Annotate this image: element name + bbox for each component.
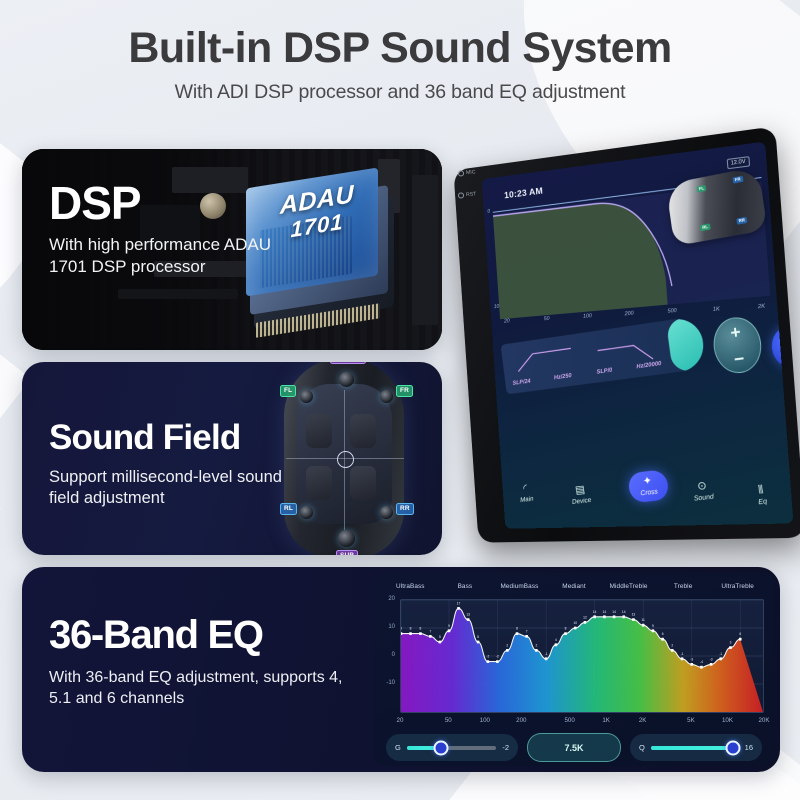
voltage-badge: 12.0V bbox=[726, 156, 750, 169]
q-slider[interactable] bbox=[651, 746, 739, 750]
reset-icon bbox=[458, 192, 464, 198]
svg-text:14: 14 bbox=[603, 610, 607, 614]
nav-item-label: Eq bbox=[758, 498, 768, 506]
crossover-panel[interactable]: SLP/24 Hz/250 SLP/0 Hz/20000 bbox=[501, 316, 707, 395]
sound-field-card-text: Sound Field Support millisecond-level so… bbox=[49, 418, 299, 510]
page-title: Built-in DSP Sound System bbox=[0, 26, 800, 71]
nav-item-label: Device bbox=[572, 497, 592, 506]
sound-icon: ⊙ bbox=[692, 480, 713, 493]
car-icon: ◜ bbox=[518, 483, 533, 495]
svg-text:8: 8 bbox=[410, 627, 412, 631]
dsp-card-title: DSP bbox=[49, 181, 279, 225]
svg-text:7: 7 bbox=[429, 629, 431, 633]
plus-icon[interactable]: + bbox=[729, 322, 742, 344]
device-icon: ▤ bbox=[570, 484, 591, 497]
q-slider-knob[interactable] bbox=[726, 740, 741, 755]
nav-item-label: Main bbox=[520, 496, 534, 504]
feature-card-sound-field: FL FR RL RR CENTER SUB Sound Field Suppo… bbox=[22, 362, 442, 555]
car-seat bbox=[350, 466, 376, 500]
eq-x-tick: 200 bbox=[516, 717, 526, 724]
eq-x-tick: 1K bbox=[602, 717, 610, 724]
eq-x-tick: 500 bbox=[564, 717, 574, 724]
header: Built-in DSP Sound System With ADI DSP p… bbox=[0, 26, 800, 104]
eq-x-axis: 20501002005001K2K5K10K20K bbox=[400, 715, 764, 728]
svg-text:5: 5 bbox=[439, 635, 441, 639]
eq-panel: UltraBassBassMediumBassMediantMiddleTreb… bbox=[374, 573, 774, 766]
nav-item-eq[interactable]: ⦀Eq bbox=[756, 485, 768, 507]
svg-text:-3: -3 bbox=[690, 657, 693, 661]
nav-item-cross[interactable]: ✦Cross bbox=[627, 469, 670, 503]
hu-x-tick: 1K bbox=[713, 306, 720, 313]
eq-band-label: Treble bbox=[674, 583, 692, 590]
q-value: 16 bbox=[745, 743, 753, 752]
svg-text:-1: -1 bbox=[681, 652, 684, 656]
eq-icon: ⦀ bbox=[756, 485, 766, 497]
svg-text:8: 8 bbox=[565, 627, 567, 631]
car-seat bbox=[350, 414, 376, 448]
sound-field-card-title: Sound Field bbox=[49, 418, 299, 458]
eq-controls: G -2 7.5K Q 16 bbox=[386, 733, 762, 762]
svg-text:14: 14 bbox=[612, 610, 616, 614]
svg-text:14: 14 bbox=[593, 610, 597, 614]
svg-text:11: 11 bbox=[641, 618, 645, 622]
svg-text:-2: -2 bbox=[486, 655, 489, 659]
svg-text:-2: -2 bbox=[496, 655, 499, 659]
eq-curve-plot[interactable]: 88875917135-2-22872-14810121414141413119… bbox=[400, 599, 764, 713]
eq-band-labels: UltraBassBassMediumBassMediantMiddleTreb… bbox=[388, 579, 760, 599]
svg-text:6: 6 bbox=[739, 632, 741, 636]
eq-x-tick: 50 bbox=[445, 717, 452, 724]
speaker-rl bbox=[300, 506, 313, 519]
svg-text:-1: -1 bbox=[545, 652, 548, 656]
svg-text:3: 3 bbox=[730, 641, 732, 645]
hu-x-tick: 100 bbox=[583, 313, 592, 320]
svg-text:-3: -3 bbox=[710, 657, 713, 661]
eq-card-text: 36-Band EQ With 36-band EQ adjustment, s… bbox=[49, 613, 359, 710]
hu-x-tick: 50 bbox=[544, 316, 550, 322]
speaker-tag-center: CENTER bbox=[330, 362, 366, 364]
svg-text:12: 12 bbox=[583, 615, 587, 619]
page-subtitle: With ADI DSP processor and 36 band EQ ad… bbox=[0, 81, 800, 104]
eq-y-tick: 10 bbox=[388, 624, 395, 630]
eq-y-tick: 20 bbox=[388, 596, 395, 602]
hu-x-tick: 20 bbox=[504, 318, 510, 324]
eq-band-label: MediumBass bbox=[500, 583, 538, 590]
nav-item-main[interactable]: ◜Main bbox=[518, 483, 534, 504]
eq-card-description: With 36-band EQ adjustment, supports 4, … bbox=[49, 668, 359, 710]
feature-card-dsp: ADAU 1701 DSP With high performance ADAU… bbox=[22, 149, 442, 350]
car-seat bbox=[306, 466, 332, 500]
svg-text:9: 9 bbox=[448, 624, 450, 628]
speaker-sub bbox=[338, 530, 355, 547]
nav-item-label: Sound bbox=[694, 493, 715, 502]
nav-item-label: Cross bbox=[640, 488, 658, 497]
dsp-card-description: With high performance ADAU 1701 DSP proc… bbox=[49, 234, 279, 278]
svg-text:7: 7 bbox=[526, 629, 528, 633]
cross-icon: ✦ bbox=[638, 475, 657, 488]
svg-text:13: 13 bbox=[466, 613, 470, 617]
q-label: Q bbox=[639, 743, 645, 752]
car-head-unit: MIC RST 10:23 AM 12.0V 0 10 R bbox=[452, 148, 788, 540]
svg-text:8: 8 bbox=[516, 627, 518, 631]
svg-text:13: 13 bbox=[632, 613, 636, 617]
speaker-rr bbox=[380, 506, 393, 519]
speaker-fr bbox=[380, 390, 393, 403]
poster-canvas: Built-in DSP Sound System With ADI DSP p… bbox=[0, 0, 800, 800]
svg-text:5: 5 bbox=[477, 635, 479, 639]
hu-y-tick: 0 bbox=[487, 209, 490, 215]
svg-text:2: 2 bbox=[535, 643, 537, 647]
eq-y-tick: 0 bbox=[392, 652, 395, 658]
svg-text:8: 8 bbox=[420, 627, 422, 631]
eq-x-tick: 2K bbox=[639, 717, 647, 724]
hu-tag-rr: RR bbox=[736, 217, 747, 225]
svg-text:9: 9 bbox=[652, 624, 654, 628]
svg-text:10: 10 bbox=[573, 621, 577, 625]
svg-text:6: 6 bbox=[662, 632, 664, 636]
minus-icon[interactable]: − bbox=[733, 349, 746, 371]
hu-x-tick: 200 bbox=[625, 311, 634, 318]
svg-text:4: 4 bbox=[555, 638, 557, 642]
eq-band-label: Bass bbox=[458, 583, 473, 590]
svg-text:-1: -1 bbox=[719, 652, 722, 656]
eq-band-label: Mediant bbox=[562, 583, 585, 590]
eq-band-label: MiddleTreble bbox=[610, 583, 648, 590]
eq-x-tick: 20 bbox=[397, 717, 404, 724]
eq-card-title: 36-Band EQ bbox=[49, 613, 359, 658]
eq-x-tick: 100 bbox=[480, 717, 490, 724]
q-control[interactable]: Q 16 bbox=[630, 734, 762, 761]
pcb-component bbox=[118, 289, 238, 299]
frequency-display[interactable]: 7.5K bbox=[527, 733, 621, 762]
sound-field-card-description: Support millisecond-level sound field ad… bbox=[49, 467, 299, 510]
head-unit-screen[interactable]: 10:23 AM 12.0V 0 10 R (L&R) FL F bbox=[482, 142, 794, 529]
plus-minus-stepper[interactable]: + − bbox=[710, 314, 765, 376]
gain-label: G bbox=[395, 743, 401, 752]
eq-x-tick: 20K bbox=[758, 717, 769, 724]
car-seat bbox=[306, 414, 332, 448]
pcb-component bbox=[412, 175, 438, 325]
hu-tag-fr: FR bbox=[732, 176, 743, 184]
eq-band-label: UltraTreble bbox=[721, 583, 753, 590]
mic-label: MIC bbox=[458, 169, 476, 176]
hu-x-tick: 2K bbox=[758, 303, 766, 310]
nav-item-device[interactable]: ▤Device bbox=[570, 484, 592, 506]
gain-value: -2 bbox=[502, 743, 509, 752]
eq-band-label: UltraBass bbox=[396, 583, 425, 590]
mic-icon bbox=[458, 170, 464, 176]
dsp-card-text: DSP With high performance ADAU 1701 DSP … bbox=[49, 181, 279, 278]
eq-x-tick: 5K bbox=[687, 717, 695, 724]
clock: 10:23 AM bbox=[504, 186, 543, 201]
hu-tag-fl: FL bbox=[696, 185, 706, 193]
gain-slider[interactable] bbox=[407, 746, 496, 750]
gain-slider-knob[interactable] bbox=[433, 740, 448, 755]
speaker-tag-rr: RR bbox=[396, 503, 414, 515]
hu-tag-rl: RL bbox=[700, 223, 711, 231]
svg-text:17: 17 bbox=[457, 601, 461, 605]
svg-text:2: 2 bbox=[671, 643, 673, 647]
bottom-navigation: ◜Main▤Device✦Cross⊙Sound⦀Eq◎Enhance bbox=[502, 427, 793, 528]
svg-text:2: 2 bbox=[506, 643, 508, 647]
hu-x-tick: 500 bbox=[667, 308, 677, 315]
speaker-fl bbox=[300, 390, 313, 403]
speaker-tag-sub: SUB bbox=[336, 550, 358, 555]
speaker-tag-fr: FR bbox=[396, 385, 413, 397]
feature-card-eq: 36-Band EQ With 36-band EQ adjustment, s… bbox=[22, 567, 780, 772]
eq-y-axis: 20100-10 bbox=[382, 599, 396, 711]
svg-text:8: 8 bbox=[401, 627, 402, 631]
sound-field-center bbox=[337, 451, 354, 468]
eq-y-tick: -10 bbox=[386, 680, 395, 686]
eq-curve-svg: 88875917135-2-22872-14810121414141413119… bbox=[401, 600, 763, 712]
gain-control[interactable]: G -2 bbox=[386, 734, 518, 761]
svg-text:14: 14 bbox=[622, 610, 626, 614]
speaker-center bbox=[339, 372, 354, 387]
speaker-tag-fl: FL bbox=[280, 385, 296, 397]
eq-x-tick: 10K bbox=[722, 717, 733, 724]
nav-item-sound[interactable]: ⊙Sound bbox=[692, 480, 715, 503]
svg-text:-4: -4 bbox=[700, 660, 703, 664]
